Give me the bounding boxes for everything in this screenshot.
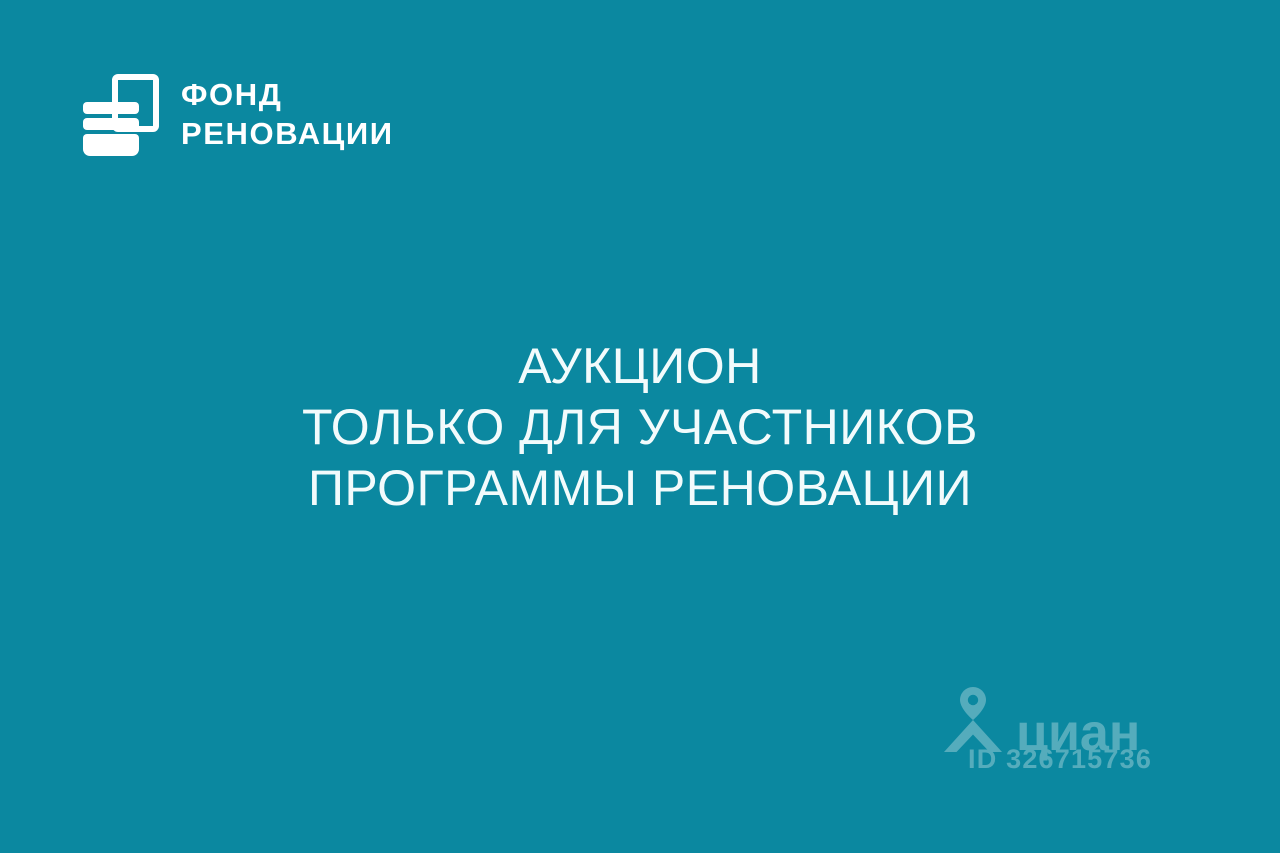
logo-bar-shape [83,134,139,156]
cian-watermark-name: циан [1016,710,1140,758]
headline-block: АУКЦИОН ТОЛЬКО ДЛЯ УЧАСТНИКОВ ПРОГРАММЫ … [0,336,1280,519]
brand-lockup: ФОНД РЕНОВАЦИИ [83,72,394,158]
logo-bar-shape [83,102,139,114]
cian-watermark-row: циан [940,686,1140,758]
headline-line-1: АУКЦИОН [120,336,1160,397]
fond-renovatsii-logo-icon [83,72,161,158]
brand-wordmark: ФОНД РЕНОВАЦИИ [181,79,394,150]
logo-bar-shape [83,118,139,130]
auction-banner: ФОНД РЕНОВАЦИИ АУКЦИОН ТОЛЬКО ДЛЯ УЧАСТН… [0,0,1280,853]
headline-line-2: ТОЛЬКО ДЛЯ УЧАСТНИКОВ [120,397,1160,458]
headline-line-3: ПРОГРАММЫ РЕНОВАЦИИ [120,458,1160,519]
brand-line-renovatsii: РЕНОВАЦИИ [181,118,394,151]
cian-watermark: циан ID 326715736 [940,678,1170,783]
cian-listing-id: ID 326715736 [968,744,1152,775]
cian-pin-logo-icon [940,686,1006,758]
brand-line-fond: ФОНД [181,79,394,112]
